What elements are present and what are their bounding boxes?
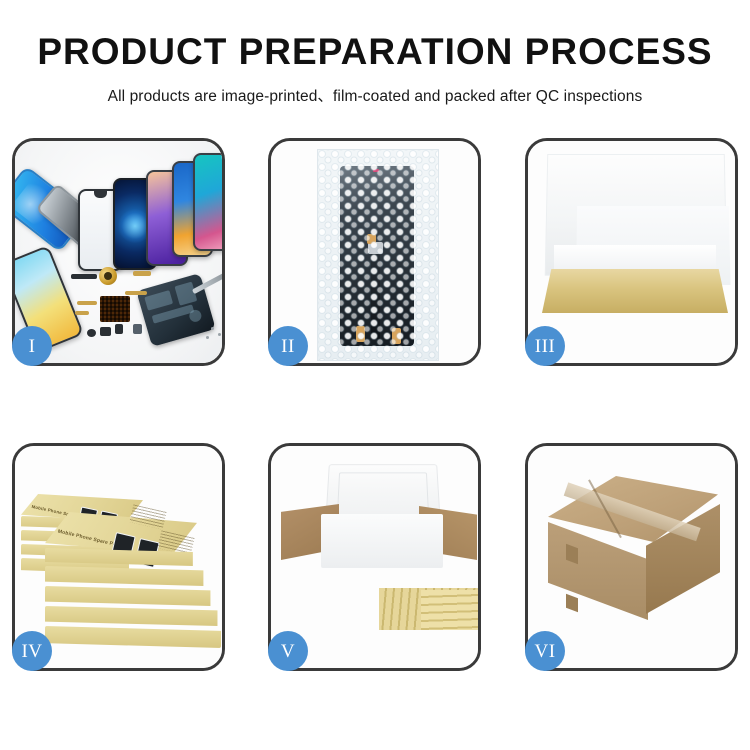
- steps-grid: I II: [12, 138, 738, 683]
- kraft-tray-icon: [542, 269, 728, 313]
- flex-cable-icon: [77, 301, 97, 305]
- step-badge-2: II: [268, 326, 308, 366]
- foam-sheet-icon: [554, 245, 716, 271]
- taptic-engine-icon: [133, 324, 142, 334]
- step-3-image: [528, 141, 735, 363]
- page-subtitle: All products are image-printed、film-coat…: [0, 70, 750, 106]
- retail-box-side: [45, 606, 221, 626]
- step-panel-4[interactable]: Mobile Phone Spare Parts Mobile Phone Sp…: [12, 443, 225, 671]
- step-numeral: II: [281, 337, 295, 356]
- retail-box-side: [45, 566, 221, 586]
- bubble-texture: [318, 150, 438, 360]
- retail-box-side: [45, 586, 221, 606]
- step-numeral: VI: [534, 642, 555, 661]
- battery-connector-icon: [115, 324, 123, 334]
- flex-cable-icon: [75, 311, 89, 315]
- bubble-wrap-bag: [317, 149, 439, 361]
- chip-icon: [71, 274, 97, 279]
- screw-icon: [218, 333, 221, 336]
- step-panel-1[interactable]: I: [12, 138, 225, 366]
- step-5-image: [271, 446, 478, 668]
- box-stack: Mobile Phone Spare Parts Mobile Phone Sp…: [21, 472, 221, 652]
- screw-icon: [211, 327, 214, 330]
- step-numeral: IV: [21, 642, 42, 661]
- step-numeral: III: [535, 337, 555, 356]
- step-6-image: [528, 446, 735, 668]
- carton-body: [305, 556, 457, 634]
- step-badge-6: VI: [525, 631, 565, 671]
- step-badge-4: IV: [12, 631, 52, 671]
- flex-cable-icon: [133, 271, 151, 276]
- product-preparation-infographic: PRODUCT PREPARATION PROCESS All products…: [0, 0, 750, 750]
- wireless-charging-coil-icon: [99, 267, 117, 285]
- carton-label-patch: [566, 594, 578, 613]
- header: PRODUCT PREPARATION PROCESS All products…: [0, 0, 750, 106]
- retail-box-side: [45, 626, 221, 648]
- step-numeral: V: [281, 642, 295, 661]
- step-numeral: I: [29, 337, 36, 356]
- screw-icon: [206, 336, 209, 339]
- step-panel-5[interactable]: V: [268, 443, 481, 671]
- step-2-image: [271, 141, 478, 363]
- step-panel-2[interactable]: II: [268, 138, 481, 366]
- step-badge-3: III: [525, 326, 565, 366]
- phone-display-teal-icon: [193, 153, 222, 251]
- camera-lens-icon: [87, 329, 96, 337]
- step-badge-5: V: [268, 631, 308, 671]
- step-panel-6[interactable]: VI: [525, 443, 738, 671]
- speaker-icon: [100, 327, 111, 336]
- connector-grid-icon: [100, 296, 130, 322]
- step-badge-1: I: [12, 326, 52, 366]
- flex-cable-icon: [125, 291, 147, 295]
- step-1-image: [15, 141, 222, 363]
- step-4-image: Mobile Phone Spare Parts Mobile Phone Sp…: [15, 446, 222, 668]
- step-panel-3[interactable]: III: [525, 138, 738, 366]
- page-title: PRODUCT PREPARATION PROCESS: [0, 0, 750, 70]
